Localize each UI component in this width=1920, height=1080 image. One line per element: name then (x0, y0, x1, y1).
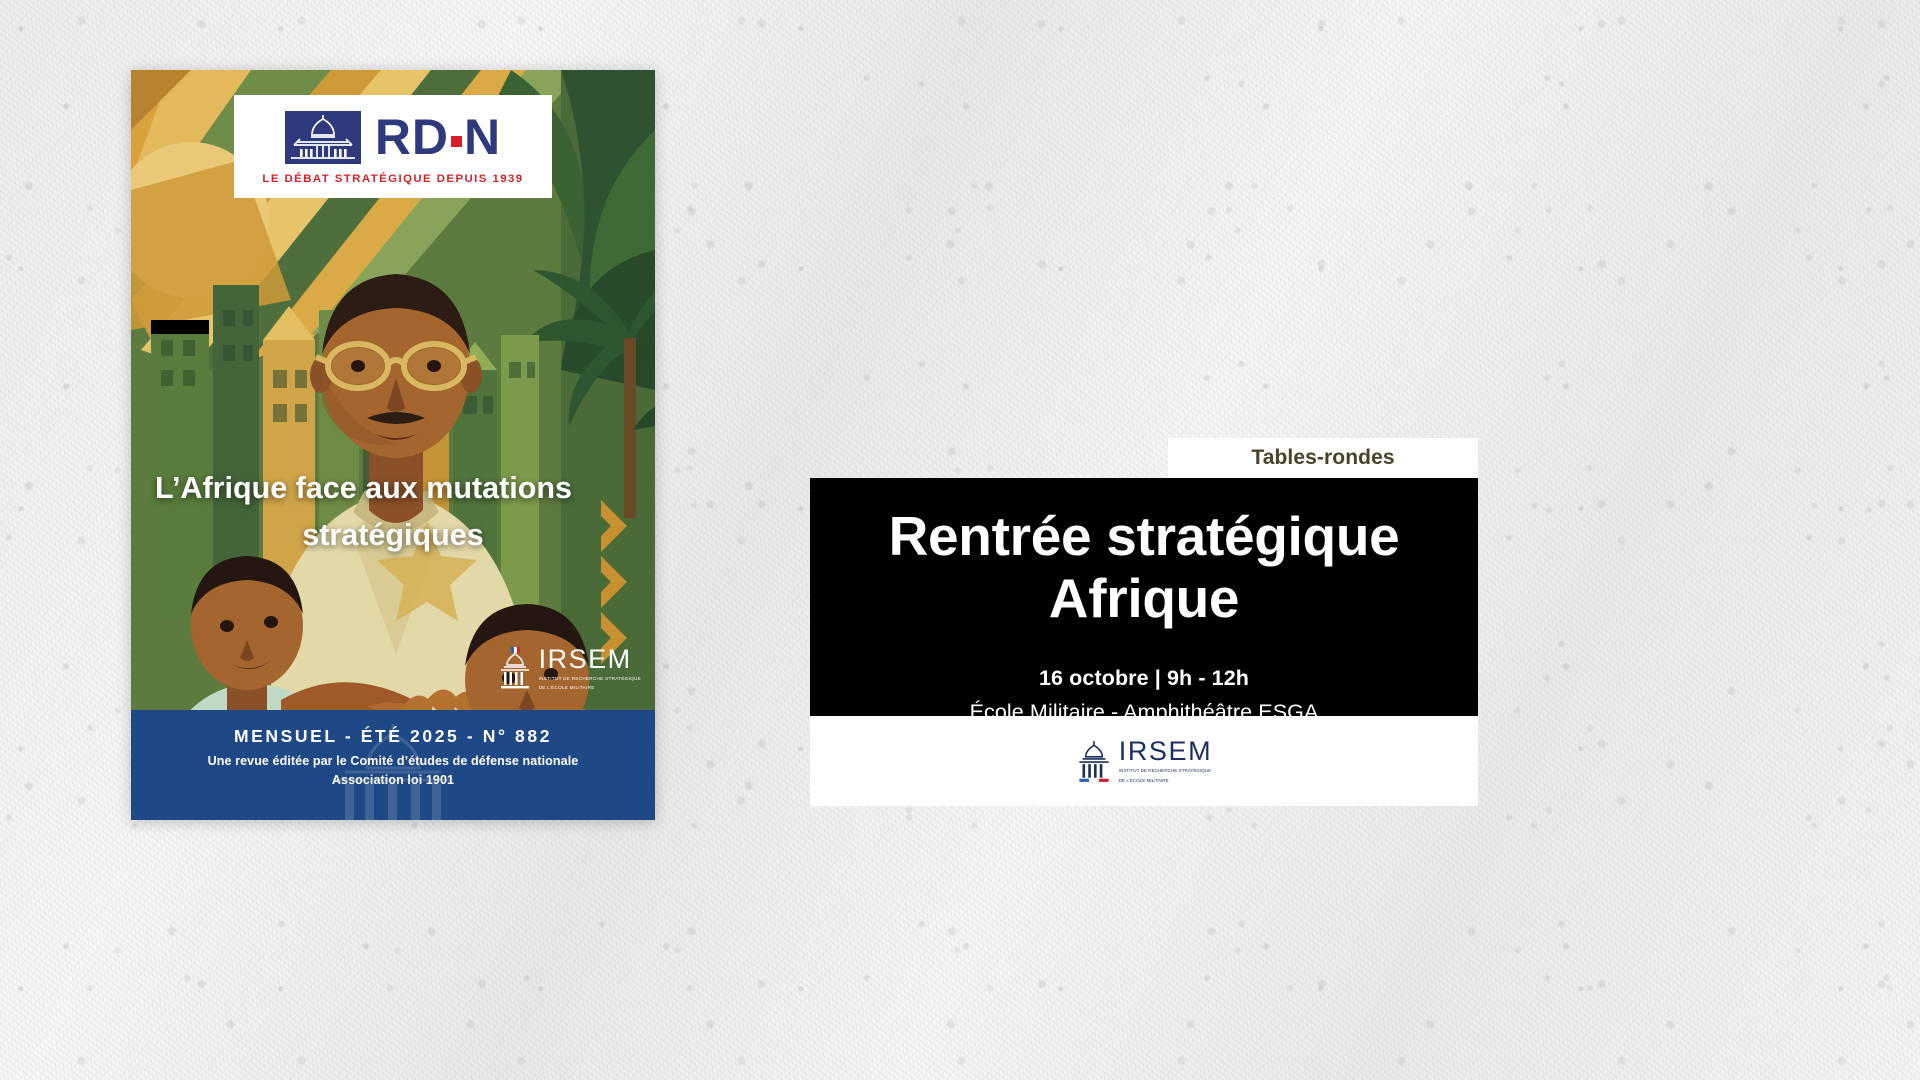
event-card: Tables-rondes Rentrée stratégique Afriqu… (810, 478, 1478, 806)
cover-headline: L’Afrique face aux mutations stratégique… (155, 465, 631, 560)
event-kicker: Tables-rondes (1251, 446, 1394, 470)
irsem-subtitle-line-1: INSTITUT DE RECHERCHE STRATÉGIQUE (539, 676, 641, 683)
rdn-logo-plaque: RD N LE DÉBAT STRATÉGIQUE DEPUIS 1939 (234, 95, 552, 198)
irsem-wordmark: IRSEM (539, 646, 641, 673)
event-main-panel: Rentrée stratégique Afrique 16 octobre |… (810, 478, 1478, 716)
irsem-subtitle-line-2: DE L’ÉCOLE MILITAIRE (539, 685, 641, 692)
cover-headline-line-2: stratégiques (155, 512, 631, 559)
event-title: Rentrée stratégique Afrique (889, 506, 1400, 629)
rdn-logo-row: RD N (285, 111, 501, 164)
rdn-tagline: LE DÉBAT STRATÉGIQUE DEPUIS 1939 (262, 173, 523, 185)
irsem-subtitle-line-1: INSTITUT DE RECHERCHE STRATÉGIQUE (1119, 768, 1213, 775)
cover-headline-line-1: L’Afrique face aux mutations (155, 465, 631, 512)
irsem-wordmark: IRSEM (1119, 738, 1213, 765)
cover-footer-band: Mensuel - Été 2025 - N° 882 Une revue éd… (131, 710, 655, 820)
cover-issue-line: Mensuel - Été 2025 - N° 882 (131, 726, 655, 747)
cover-association-line: Association loi 1901 (131, 773, 655, 787)
irsem-building-icon (1076, 738, 1112, 784)
cover-publisher-line: Une revue éditée par le Comité d’études … (131, 754, 655, 768)
rdn-separator-dot (451, 136, 462, 147)
magazine-cover: RD N LE DÉBAT STRATÉGIQUE DEPUIS 1939 L’… (131, 70, 655, 820)
irsem-subtitle-line-2: DE L’ÉCOLE MILITAIRE (1119, 778, 1213, 785)
national-assembly-building-icon (285, 111, 361, 164)
event-footer: IRSEM INSTITUT DE RECHERCHE STRATÉGIQUE … (810, 716, 1478, 806)
event-kicker-bar: Tables-rondes (1168, 438, 1478, 478)
rdn-wordmark: RD N (375, 112, 501, 162)
rdn-wordmark-right: N (464, 112, 501, 162)
event-title-line-1: Rentrée stratégique (889, 506, 1400, 568)
event-date: 16 octobre | 9h - 12h (1039, 666, 1249, 691)
cover-irsem-logo: IRSEM INSTITUT DE RECHERCHE STRATÉGIQUE … (498, 646, 641, 692)
event-irsem-logo: IRSEM INSTITUT DE RECHERCHE STRATÉGIQUE … (1076, 738, 1213, 784)
rdn-wordmark-left: RD (375, 112, 449, 162)
irsem-building-icon (498, 647, 532, 691)
event-title-line-2: Afrique (889, 568, 1400, 630)
